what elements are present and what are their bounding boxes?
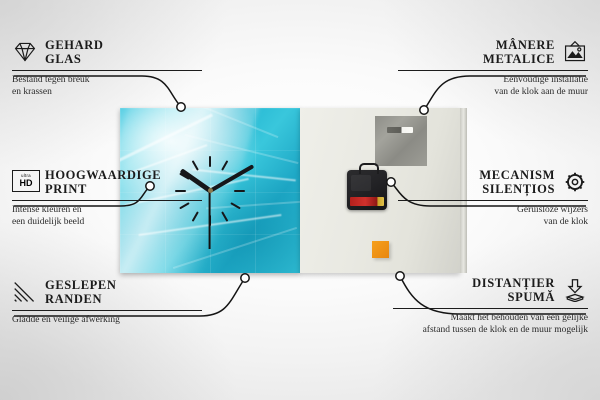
feature-desc-line2: van de klok xyxy=(544,217,588,227)
feature-divider xyxy=(393,308,588,309)
feature-title-line2: SILENȚIOS xyxy=(482,182,555,196)
ultra-hd-big-label: HD xyxy=(20,179,33,188)
feature-title-line1: GESLEPEN xyxy=(45,278,117,292)
feature-geslepen-randen: GESLEPEN RANDEN Gladde en veilige afwerk… xyxy=(12,278,202,327)
feature-title-line2: SPUMĂ xyxy=(508,290,555,304)
feature-gehard-glas: GEHARD GLAS Bestand tegen breuk en krass… xyxy=(12,38,202,98)
feature-desc-line1: Gladde en veilige afwerking xyxy=(12,315,120,325)
feature-desc-line2: en krassen xyxy=(12,87,52,97)
feature-desc-line1: Maakt het behouden van een gelijke xyxy=(451,313,588,323)
bevel-stripes-icon xyxy=(12,280,38,304)
feature-title-line1: DISTANȚIER xyxy=(472,276,555,290)
feature-title-line1: HOOGWAARDIGE xyxy=(45,168,161,182)
feature-hoogwaardige-print: ultra HD HOOGWAARDIGE PRINT Intense kleu… xyxy=(12,168,202,228)
feature-desc-line2: een duidelijk beeld xyxy=(12,217,84,227)
feature-divider xyxy=(398,200,588,201)
ultra-hd-icon: ultra HD xyxy=(12,170,38,194)
feature-desc-line2: van de klok aan de muur xyxy=(494,87,588,97)
feature-desc-line1: Intense kleuren en xyxy=(12,205,82,215)
connector-dot-manere-metalice xyxy=(420,106,428,114)
feature-divider xyxy=(12,310,202,311)
feature-manere-metalice: MÂNERE METALICE Eenvoudige installatie v… xyxy=(398,38,588,98)
connector-dot-gehard-glas xyxy=(177,103,185,111)
infographic-canvas: GEHARD GLAS Bestand tegen breuk en krass… xyxy=(0,0,600,400)
feature-distantier-spuma: DISTANȚIER SPUMĂ Maakt het behouden van … xyxy=(393,276,588,336)
connector-dot-mecanism-silentios xyxy=(387,178,395,186)
feature-title-line1: GEHARD xyxy=(45,38,103,52)
feature-title-line2: METALICE xyxy=(483,52,555,66)
feature-divider xyxy=(12,200,202,201)
down-arrow-pad-icon xyxy=(562,278,588,302)
feature-title-line1: MÂNERE xyxy=(496,38,555,52)
feature-divider xyxy=(12,70,202,71)
feature-desc-line1: Eenvoudige installatie xyxy=(503,75,588,85)
feature-title-line2: GLAS xyxy=(45,52,81,66)
feature-title-line2: PRINT xyxy=(45,182,87,196)
feature-divider xyxy=(398,70,588,71)
feature-title-line1: MECANISM xyxy=(479,168,555,182)
diamond-icon xyxy=(12,40,38,64)
feature-desc-line1: Geruisloze wijzers xyxy=(517,205,588,215)
feature-desc-line1: Bestand tegen breuk xyxy=(12,75,90,85)
gear-icon xyxy=(562,170,588,194)
feature-title-line2: RANDEN xyxy=(45,292,102,306)
picture-frame-hanger-icon xyxy=(562,40,588,64)
feature-mecanism-silentios: MECANISM SILENȚIOS Geruisloze wijzers va… xyxy=(398,168,588,228)
connector-dot-geslepen-randen xyxy=(241,274,249,282)
feature-desc-line2: afstand tussen de klok en de muur mogeli… xyxy=(423,325,588,335)
